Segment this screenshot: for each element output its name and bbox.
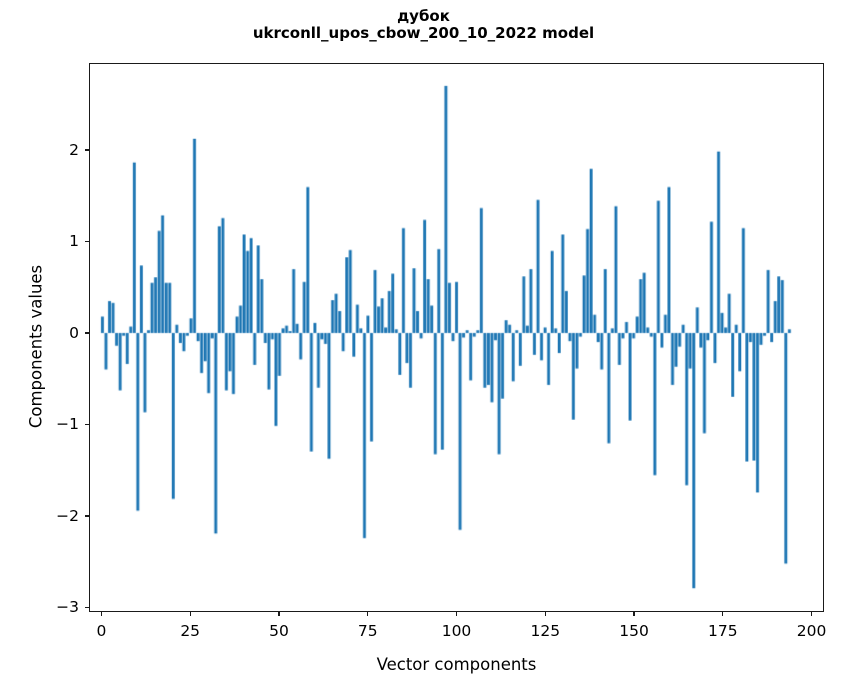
y-tick-mark <box>85 424 89 425</box>
x-tick-mark <box>278 612 279 616</box>
y-tick-mark <box>85 607 89 608</box>
chart-title-line-2: ukrconll_upos_cbow_200_10_2022 model <box>0 25 847 42</box>
y-tick-label: 2 <box>17 141 79 159</box>
x-tick-mark <box>722 612 723 616</box>
x-tick-mark <box>456 612 457 616</box>
x-tick-mark <box>101 612 102 616</box>
x-tick-mark <box>633 612 634 616</box>
x-tick-mark <box>190 612 191 616</box>
chart-title-line-1: дубок <box>0 8 847 25</box>
y-tick-label: −3 <box>17 598 79 616</box>
chart-title: дубок ukrconll_upos_cbow_200_10_2022 mod… <box>0 8 847 43</box>
x-tick-label: 150 <box>619 622 649 640</box>
y-tick-mark <box>85 149 89 150</box>
x-tick-label: 200 <box>797 622 827 640</box>
x-tick-label: 0 <box>96 622 106 640</box>
x-tick-mark <box>545 612 546 616</box>
bar-series-canvas <box>90 64 823 611</box>
y-tick-label: −2 <box>17 507 79 525</box>
y-tick-mark <box>85 515 89 516</box>
x-tick-label: 50 <box>269 622 289 640</box>
x-tick-mark <box>367 612 368 616</box>
x-tick-label: 125 <box>530 622 560 640</box>
x-tick-label: 175 <box>708 622 738 640</box>
y-axis-label: Components values <box>27 207 46 487</box>
x-tick-label: 100 <box>442 622 472 640</box>
y-tick-mark <box>85 332 89 333</box>
x-tick-label: 25 <box>180 622 200 640</box>
x-tick-mark <box>811 612 812 616</box>
y-tick-mark <box>85 241 89 242</box>
x-tick-label: 75 <box>358 622 378 640</box>
figure-canvas: дубок ukrconll_upos_cbow_200_10_2022 mod… <box>0 0 847 696</box>
x-axis-label: Vector components <box>89 655 824 674</box>
plot-area <box>89 63 824 612</box>
